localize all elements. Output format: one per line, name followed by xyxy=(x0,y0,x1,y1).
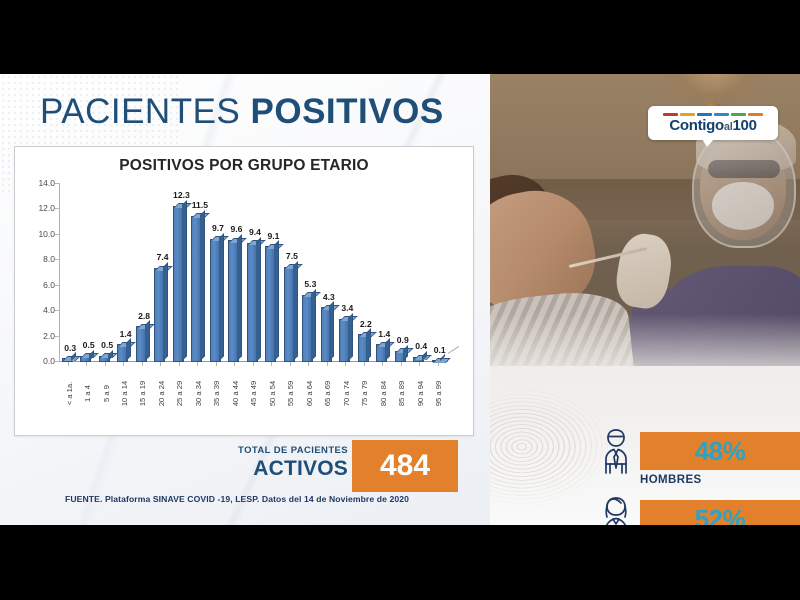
chart-bar xyxy=(154,268,165,362)
bar-value-label: 1.4 xyxy=(378,329,390,339)
x-axis-tick xyxy=(179,362,180,366)
y-axis-tick xyxy=(55,310,59,311)
x-axis-tick-label-text: 45 a 49 xyxy=(249,381,258,406)
title-thin: PACIENTES xyxy=(40,92,240,131)
chart-bar xyxy=(339,319,350,362)
x-axis-tick-label: 1 a 4 xyxy=(78,367,96,427)
y-axis-tick xyxy=(55,183,59,184)
y-axis-tick-label: 0.0 xyxy=(43,356,55,366)
bar-value-label: 1.4 xyxy=(120,329,132,339)
logo-text-100: 100 xyxy=(732,117,756,134)
bar-slot: 0.5 xyxy=(97,183,115,362)
letterbox-bottom xyxy=(0,525,800,600)
screenshot-stage: PACIENTES POSITIVOS POSITIVOS POR GRUPO … xyxy=(0,0,800,600)
x-axis-tick-label-text: < a 1a. xyxy=(65,382,74,405)
bar-value-label: 7.4 xyxy=(157,252,169,262)
x-axis-tick-label: 10 a 14 xyxy=(115,367,133,427)
chart-bar xyxy=(210,239,221,362)
x-axis-tick-label-text: 90 a 94 xyxy=(416,381,425,406)
x-axis-tick-label-text: 25 a 29 xyxy=(176,381,185,406)
x-axis-tick xyxy=(419,362,420,366)
x-axis-tick-label: 15 a 19 xyxy=(134,367,152,427)
x-axis-tick-label-text: 10 a 14 xyxy=(120,381,129,406)
x-axis-tick xyxy=(160,362,161,366)
x-axis-tick-label: 30 a 34 xyxy=(189,367,207,427)
chart-bar xyxy=(173,206,184,362)
chart-bar xyxy=(136,326,147,362)
y-axis-tick-label: 2.0 xyxy=(43,331,55,341)
bar-value-label: 12.3 xyxy=(173,190,190,200)
x-axis-tick-label: 90 a 94 xyxy=(411,367,429,427)
x-axis-tick-label-text: 55 a 59 xyxy=(286,381,295,406)
logo-color-bar xyxy=(748,113,763,116)
x-axis-tick-label: 85 a 89 xyxy=(393,367,411,427)
x-axis-tick-label-text: 35 a 39 xyxy=(213,381,222,406)
x-axis-tick-label-text: 50 a 54 xyxy=(268,381,277,406)
bar-value-label: 11.5 xyxy=(192,200,208,210)
source-note: FUENTE. Plataforma SINAVE COVID -19, LES… xyxy=(0,494,474,504)
x-axis-tick-label-text: 1 a 4 xyxy=(83,385,92,402)
chart-bar xyxy=(302,295,313,362)
logo-color-bar xyxy=(680,113,695,116)
y-axis-tick-label: 10.0 xyxy=(38,229,55,239)
x-axis-tick-label: 50 a 54 xyxy=(263,367,281,427)
bar-value-label: 0.5 xyxy=(101,340,113,350)
x-axis-tick-label-text: 70 a 74 xyxy=(342,381,351,406)
y-axis-tick xyxy=(55,234,59,235)
y-axis-labels: 0.02.04.06.08.010.012.014.0 xyxy=(21,183,55,361)
x-axis-tick-label: 55 a 59 xyxy=(282,367,300,427)
y-axis-tick-label: 12.0 xyxy=(38,203,55,213)
total-activos-row: TOTAL DE PACIENTES ACTIVOS 484 xyxy=(0,444,474,490)
chart-bar xyxy=(117,344,128,362)
bar-value-label: 0.4 xyxy=(415,341,427,351)
x-axis-tick xyxy=(197,362,198,366)
chart-bar xyxy=(376,344,387,362)
total-value-box: 484 xyxy=(352,440,458,492)
x-axis-tick-label-text: 15 a 19 xyxy=(139,381,148,406)
x-axis-tick-label: 40 a 44 xyxy=(226,367,244,427)
presentation-slide: PACIENTES POSITIVOS POSITIVOS POR GRUPO … xyxy=(0,74,800,525)
x-axis-tick-label: 95 a 99 xyxy=(430,367,448,427)
bar-value-label: 3.4 xyxy=(341,303,353,313)
chart-card: POSITIVOS POR GRUPO ETARIO 0.02.04.06.08… xyxy=(14,146,474,436)
stat-hombres-percent: 48% xyxy=(695,436,746,467)
right-media-panel: Contigoal100 48% HOMBRES xyxy=(490,74,800,525)
logo-text-main: Contigo xyxy=(669,117,724,134)
bar-value-label: 0.3 xyxy=(64,343,76,353)
stat-hombres-badge: 48% xyxy=(640,432,800,470)
logo-color-bars xyxy=(663,113,763,116)
chart-bar xyxy=(228,240,239,362)
x-axis-tick-label: 70 a 74 xyxy=(337,367,355,427)
y-axis-tick xyxy=(55,285,59,286)
logo-color-bar xyxy=(697,113,712,116)
y-axis-tick xyxy=(55,259,59,260)
y-axis-tick xyxy=(55,361,59,362)
stat-mujeres-percent: 52% xyxy=(695,504,746,526)
x-axis-tick xyxy=(216,362,217,366)
total-main-label: ACTIVOS xyxy=(238,458,348,479)
chart-plot-area: 0.02.04.06.08.010.012.014.0 0.30.50.51.4… xyxy=(15,183,475,433)
x-axis-tick xyxy=(123,362,124,366)
x-axis-tick-label-text: 75 a 79 xyxy=(360,381,369,406)
bar-slot: 9.6 xyxy=(226,183,244,362)
x-axis-tick xyxy=(382,362,383,366)
chart-bar xyxy=(284,267,295,362)
x-axis-tick-label: 65 a 69 xyxy=(319,367,337,427)
bar-slot: 1.4 xyxy=(115,183,133,362)
logo-color-bar xyxy=(663,113,678,116)
chart-bar xyxy=(265,246,276,362)
bar-slot: 0.5 xyxy=(78,183,96,362)
x-axis-tick xyxy=(364,362,365,366)
x-axis-tick xyxy=(271,362,272,366)
x-axis-tick-label: 20 a 24 xyxy=(152,367,170,427)
x-axis-tick-label: 60 a 64 xyxy=(300,367,318,427)
bar-slot: 9.7 xyxy=(208,183,226,362)
chart-bar xyxy=(395,351,406,362)
bar-value-label: 4.3 xyxy=(323,292,335,302)
x-axis-tick-label-text: 80 a 84 xyxy=(379,381,388,406)
x-axis-tick xyxy=(68,362,69,366)
bar-slot: 9.4 xyxy=(245,183,263,362)
total-labels: TOTAL DE PACIENTES ACTIVOS xyxy=(238,446,348,479)
x-axis-tick xyxy=(86,362,87,366)
y-axis-tick-label: 4.0 xyxy=(43,305,55,315)
x-axis-tick xyxy=(142,362,143,366)
bar-slot: 3.4 xyxy=(337,183,355,362)
bar-value-label: 0.9 xyxy=(397,335,409,345)
x-axis-tick-label-text: 5 a 9 xyxy=(102,385,111,402)
bar-slot: 12.3 xyxy=(171,183,189,362)
bar-slot: 4.3 xyxy=(319,183,337,362)
bar-slot: 0.3 xyxy=(60,183,78,362)
chart-bar xyxy=(247,243,258,363)
bar-value-label: 0.5 xyxy=(83,340,95,350)
x-axis-tick-label-text: 30 a 34 xyxy=(194,381,203,406)
x-axis-tick xyxy=(308,362,309,366)
male-person-icon xyxy=(594,426,638,476)
title-bold: POSITIVOS xyxy=(251,92,444,131)
chart-title: POSITIVOS POR GRUPO ETARIO xyxy=(15,157,473,175)
page-title: PACIENTES POSITIVOS xyxy=(40,94,444,129)
y-axis-tick-label: 6.0 xyxy=(43,280,55,290)
x-axis-tick-label-text: 85 a 89 xyxy=(397,381,406,406)
x-axis-tick xyxy=(105,362,106,366)
logo-color-bar xyxy=(731,113,746,116)
logo-text: Contigoal100 xyxy=(669,118,756,133)
x-axis-tick-label: 45 a 49 xyxy=(245,367,263,427)
x-axis-tick xyxy=(253,362,254,366)
x-axis-tick-label: 35 a 39 xyxy=(208,367,226,427)
bar-series: 0.30.50.51.42.87.412.311.59.79.69.49.17.… xyxy=(60,183,448,362)
total-value: 484 xyxy=(380,449,430,483)
x-axis-tick-label-text: 40 a 44 xyxy=(231,381,240,406)
x-axis-tick xyxy=(401,362,402,366)
x-axis-tick xyxy=(438,362,439,366)
bar-slot: 11.5 xyxy=(189,183,207,362)
bar-slot: 5.3 xyxy=(300,183,318,362)
bar-value-label: 7.5 xyxy=(286,251,298,261)
bar-value-label: 9.1 xyxy=(267,231,279,241)
bar-slot: 0.9 xyxy=(393,183,411,362)
bar-value-label: 5.3 xyxy=(304,279,316,289)
chart-bar xyxy=(321,307,332,362)
x-axis-tick xyxy=(234,362,235,366)
x-axis-tick xyxy=(290,362,291,366)
x-axis-tick-label: < a 1a. xyxy=(60,367,78,427)
bar-slot: 7.4 xyxy=(152,183,170,362)
chart-bar xyxy=(191,216,202,362)
left-content-panel: PACIENTES POSITIVOS POSITIVOS POR GRUPO … xyxy=(0,74,490,525)
bar-value-label: 9.7 xyxy=(212,223,224,233)
contigo-al-100-logo: Contigoal100 xyxy=(648,106,778,140)
bar-slot: 9.1 xyxy=(263,183,281,362)
bar-value-label: 2.2 xyxy=(360,319,372,329)
x-axis-tick xyxy=(327,362,328,366)
x-axis-tick-label-text: 20 a 24 xyxy=(157,381,166,406)
bar-slot: 7.5 xyxy=(282,183,300,362)
x-axis-tick-label: 75 a 79 xyxy=(356,367,374,427)
stat-hombres-label: HOMBRES xyxy=(640,474,702,486)
bar-slot: 1.4 xyxy=(374,183,392,362)
bar-value-label: 2.8 xyxy=(138,311,150,321)
logo-color-bar xyxy=(714,113,729,116)
x-axis-tick-label-text: 95 a 99 xyxy=(434,381,443,406)
y-axis-tick xyxy=(55,208,59,209)
female-person-icon xyxy=(594,494,638,525)
x-axis-tick xyxy=(345,362,346,366)
bar-value-label: 9.4 xyxy=(249,227,261,237)
bar-value-label: 9.6 xyxy=(230,224,242,234)
x-axis-tick-label-text: 60 a 64 xyxy=(305,381,314,406)
y-axis-tick-label: 8.0 xyxy=(43,254,55,264)
y-axis-tick xyxy=(55,336,59,337)
letterbox-top xyxy=(0,0,800,74)
bar-slot: 0.1 xyxy=(430,183,448,362)
x-axis-tick-label: 5 a 9 xyxy=(97,367,115,427)
x-axis-tick-label-text: 65 a 69 xyxy=(323,381,332,406)
x-axis-labels: < a 1a.1 a 45 a 910 a 1415 a 1920 a 2425… xyxy=(60,367,448,429)
x-axis-tick-label: 80 a 84 xyxy=(374,367,392,427)
stat-mujeres-badge: 52% xyxy=(640,500,800,525)
bar-slot: 2.2 xyxy=(356,183,374,362)
total-sub-label: TOTAL DE PACIENTES xyxy=(238,446,348,456)
bar-value-label: 0.1 xyxy=(434,345,446,355)
y-axis-tick-label: 14.0 xyxy=(38,178,55,188)
bar-slot: 2.8 xyxy=(134,183,152,362)
bar-slot: 0.4 xyxy=(411,183,429,362)
chart-bar xyxy=(358,334,369,362)
x-axis-tick-label: 25 a 29 xyxy=(171,367,189,427)
